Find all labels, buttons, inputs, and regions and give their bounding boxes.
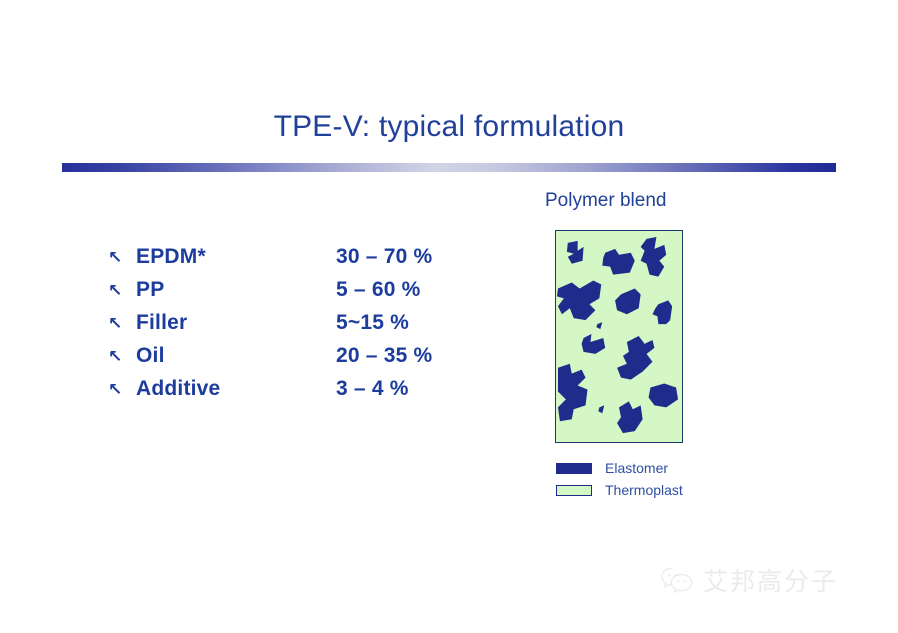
- formulation-component-label: Additive: [136, 377, 336, 401]
- formulation-component-label: PP: [136, 278, 336, 302]
- arrow-northwest-icon: ↖: [108, 382, 136, 399]
- legend-item-elastomer: Elastomer: [556, 457, 683, 479]
- thermoplast-swatch-icon: [556, 485, 592, 496]
- legend-label: Elastomer: [605, 460, 668, 476]
- formulation-list: ↖ EPDM* 30 – 70 % ↖ PP 5 – 60 % ↖ Filler…: [108, 245, 508, 410]
- legend-label: Thermoplast: [605, 482, 683, 498]
- watermark-text: 艾邦高分子: [703, 562, 838, 598]
- formulation-component-label: EPDM*: [136, 245, 336, 269]
- polymer-blend-morphology-svg: [556, 231, 682, 442]
- list-item: ↖ Filler 5~15 %: [108, 311, 508, 344]
- arrow-northwest-icon: ↖: [108, 283, 136, 300]
- list-item: ↖ EPDM* 30 – 70 %: [108, 245, 508, 278]
- title-divider-bar: [62, 163, 836, 172]
- formulation-component-label: Oil: [136, 344, 336, 368]
- list-item: ↖ PP 5 – 60 %: [108, 278, 508, 311]
- formulation-component-value: 5 – 60 %: [336, 278, 421, 302]
- polymer-blend-legend: Elastomer Thermoplast: [556, 457, 683, 501]
- formulation-component-value: 5~15 %: [336, 311, 409, 335]
- wechat-bubble-icon: [660, 565, 694, 595]
- arrow-northwest-icon: ↖: [108, 316, 136, 333]
- arrow-northwest-icon: ↖: [108, 250, 136, 267]
- elastomer-domains: [557, 237, 678, 433]
- page-title: TPE-V: typical formulation: [0, 110, 898, 144]
- formulation-component-value: 30 – 70 %: [336, 245, 432, 269]
- list-item: ↖ Additive 3 – 4 %: [108, 377, 508, 410]
- watermark: 艾邦高分子: [660, 562, 838, 598]
- elastomer-swatch-icon: [556, 463, 592, 474]
- list-item: ↖ Oil 20 – 35 %: [108, 344, 508, 377]
- legend-item-thermoplast: Thermoplast: [556, 479, 683, 501]
- arrow-northwest-icon: ↖: [108, 349, 136, 366]
- formulation-component-value: 20 – 35 %: [336, 344, 432, 368]
- polymer-blend-diagram: [555, 230, 683, 443]
- formulation-component-label: Filler: [136, 311, 336, 335]
- polymer-blend-heading: Polymer blend: [545, 190, 666, 212]
- formulation-component-value: 3 – 4 %: [336, 377, 409, 401]
